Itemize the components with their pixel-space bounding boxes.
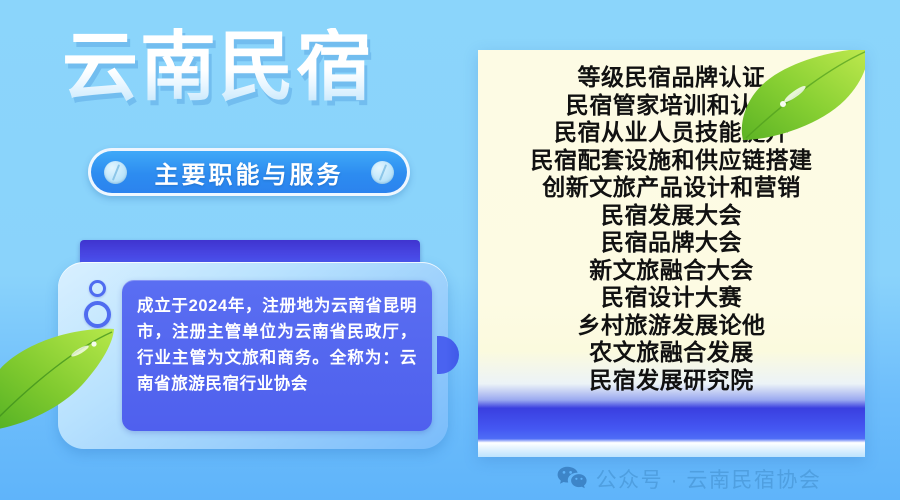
left-column: 云南民宿 主要职能与服务 成立于2024年，注册地为云南省昆明市，注册主管单位为…	[0, 0, 478, 500]
subtitle-badge: 主要职能与服务	[88, 148, 410, 196]
card-side-nub	[437, 336, 459, 374]
list-item: 新文旅融合大会	[478, 257, 865, 285]
card-decor-rings	[80, 280, 114, 328]
services-panel: 等级民宿品牌认证 民宿管家培训和认证 民宿从业人员技能提升 民宿配套设施和供应链…	[478, 50, 865, 457]
footer: 公众号 · 云南民宿协会	[478, 457, 900, 500]
screw-circle-icon-left	[104, 161, 127, 184]
list-item: 民宿发展大会	[478, 202, 865, 230]
footer-label: 公众号 · 云南民宿协会	[596, 464, 822, 494]
wechat-icon	[557, 466, 587, 491]
list-item: 创新文旅产品设计和营销	[478, 174, 865, 202]
leaf-icon-top-right	[741, 50, 865, 148]
ring-icon-large	[84, 301, 111, 328]
page-title: 云南民宿	[62, 28, 374, 108]
list-item: 民宿配套设施和供应链搭建	[478, 147, 865, 175]
subtitle-badge-label: 主要职能与服务	[155, 155, 344, 190]
info-card-body: 成立于2024年，注册地为云南省昆明市，注册主管单位为云南省民政厅，行业主管为文…	[122, 280, 432, 431]
list-item: 民宿发展研究院	[478, 367, 865, 395]
poster-canvas: 云南民宿 主要职能与服务 成立于2024年，注册地为云南省昆明市，注册主管单位为…	[0, 0, 900, 500]
list-item: 乡村旅游发展论他	[478, 312, 865, 340]
list-item: 民宿设计大赛	[478, 284, 865, 312]
list-item: 农文旅融合发展	[478, 339, 865, 367]
leaf-icon-bottom-left	[0, 325, 117, 433]
screw-circle-icon-right	[371, 161, 394, 184]
info-card-text: 成立于2024年，注册地为云南省昆明市，注册主管单位为云南省民政厅，行业主管为文…	[137, 293, 417, 397]
ring-icon-small	[89, 280, 106, 297]
list-item: 民宿品牌大会	[478, 229, 865, 257]
